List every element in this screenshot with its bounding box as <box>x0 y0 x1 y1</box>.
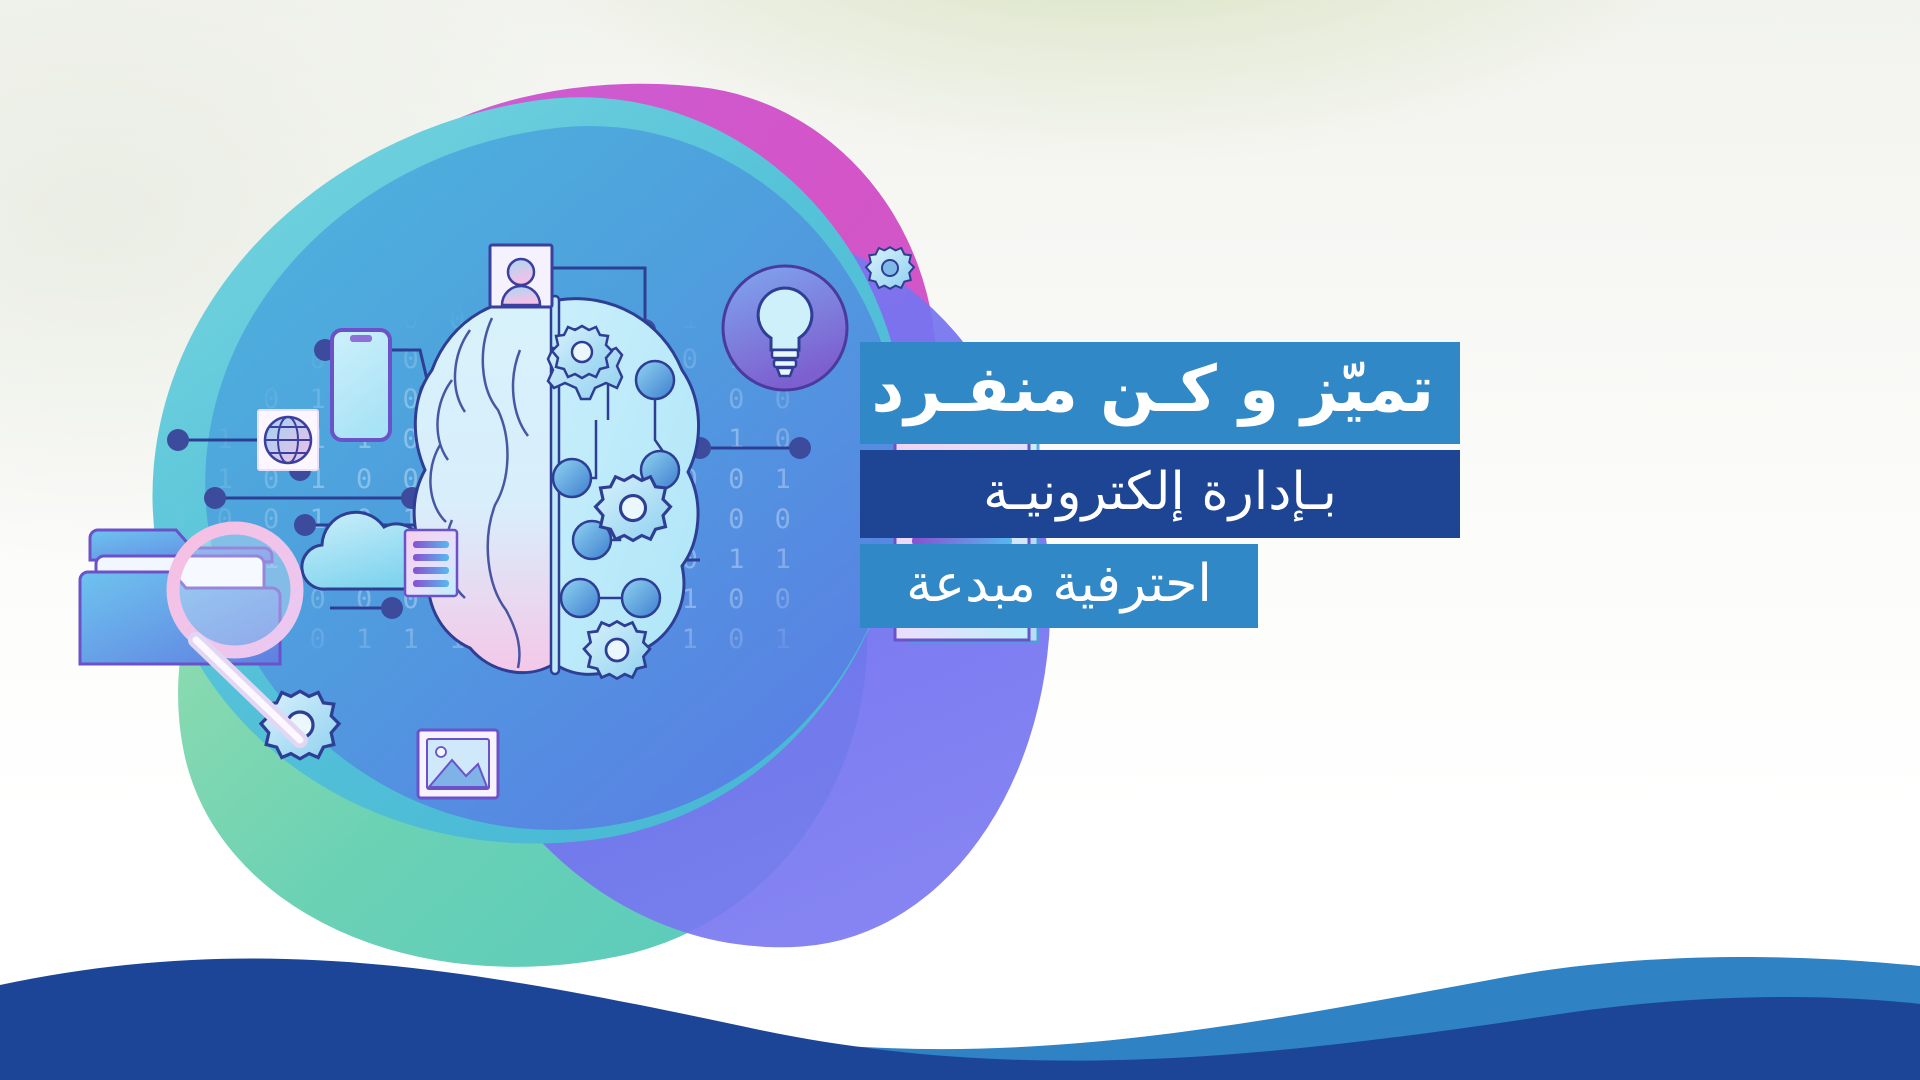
banner-root: 0 0 1 0 1 0 0 0 1 0 1 1 0 0 0 1 0 1 0 0 … <box>0 0 1920 1080</box>
headline-block: تميّز و كـن منفـرد بـإدارة إلكترونيـة اح… <box>860 342 1460 628</box>
headline-line-2: بـإدارة إلكترونيـة <box>860 450 1460 538</box>
headline-line-1: تميّز و كـن منفـرد <box>860 342 1460 444</box>
bottom-waves <box>0 780 1920 1080</box>
headline-line-3: احترفية مبدعة <box>860 544 1258 628</box>
